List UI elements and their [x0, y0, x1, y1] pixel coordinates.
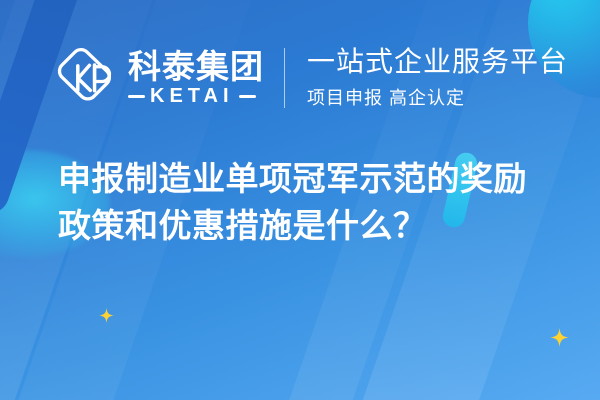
background-stripe-edge: [0, 0, 28, 400]
logo-en-row: KETAI: [128, 86, 264, 106]
tagline-main-text: 一站式企业服务平台: [307, 46, 568, 78]
sparkle-star-left-icon: [99, 308, 114, 323]
banner-header: 科泰集团 KETAI 一站式企业服务平台 项目申报 高企认定: [56, 44, 568, 112]
logo-rule-right: [239, 95, 256, 98]
sparkle-star-right-icon: [550, 328, 569, 347]
logo-company-name-cn: 科泰集团: [128, 50, 264, 84]
ketai-diamond-kp-logo-icon: [56, 47, 118, 109]
promo-banner: 科泰集团 KETAI 一站式企业服务平台 项目申报 高企认定 申报制造业单项冠军…: [0, 0, 600, 400]
page-title: 申报制造业单项冠军示范的奖励政策和优惠措施是什么？: [58, 156, 558, 250]
logo-company-name-en: KETAI: [150, 86, 234, 106]
header-divider: [284, 48, 285, 108]
tagline-sub-text: 项目申报 高企认定: [307, 84, 568, 110]
logo-rule-left: [128, 95, 145, 98]
tagline-block: 一站式企业服务平台 项目申报 高企认定: [307, 46, 568, 109]
logo-wordmark: 科泰集团 KETAI: [128, 50, 264, 107]
